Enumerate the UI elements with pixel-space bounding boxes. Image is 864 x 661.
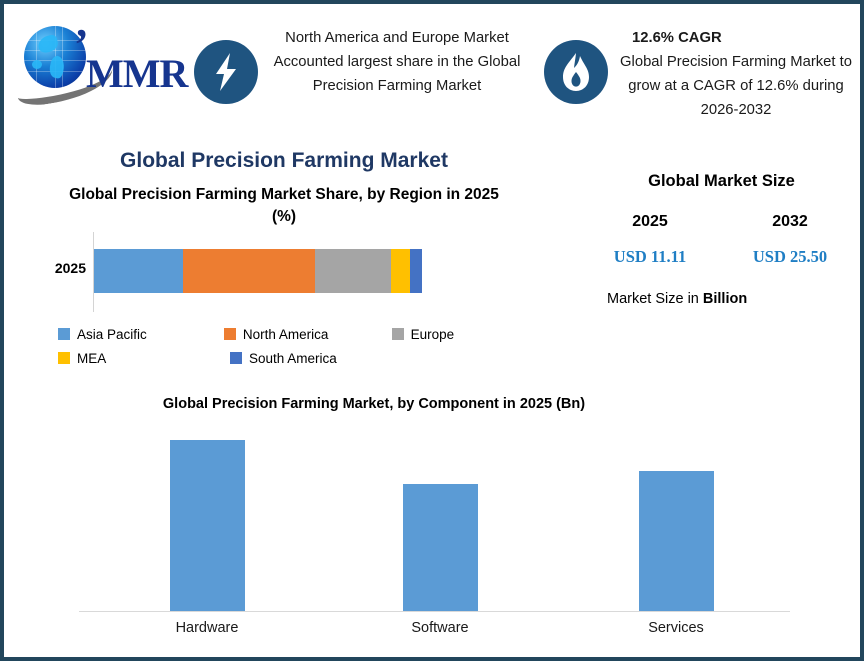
legend-item-europe[interactable]: Europe [392,327,488,342]
company-logo: ’ MMR [16,22,191,102]
market-size-year-end: 2032 [731,213,849,231]
stacked-bar [94,249,422,293]
legend-row-2: MEA South America [58,346,488,370]
stacked-bar-segment-south-america [410,249,422,293]
component-chart: HardwareSoftwareServices [4,424,860,644]
market-size-year-start: 2025 [591,213,709,231]
legend-swatch-icon [230,352,242,364]
legend-label: South America [249,351,337,366]
fact-cagr-headline: 12.6% CAGR [616,26,856,50]
legend-swatch-icon [58,352,70,364]
market-size-footnote: Market Size in Billion [589,291,854,307]
legend-item-south-america[interactable]: South America [230,351,404,366]
legend-label: MEA [77,351,106,366]
fact-cagr-body: Global Precision Farming Market to grow … [620,54,852,118]
header-fact-region: North America and Europe Market Accounte… [194,26,524,126]
legend-label: Europe [411,327,455,342]
legend-item-mea[interactable]: MEA [58,351,230,366]
share-chart: 2025 [29,232,489,312]
component-axis-label-hardware: Hardware [127,620,287,636]
header: ’ MMR North America and Europe Market Ac… [4,4,860,136]
share-chart-category-label: 2025 [29,260,86,276]
header-fact-cagr: 12.6% CAGR Global Precision Farming Mark… [544,26,856,126]
market-size-footnote-prefix: Market Size in [607,291,703,307]
bolt-icon [194,40,258,104]
legend-swatch-icon [58,328,70,340]
stacked-bar-segment-asia-pacific [94,249,183,293]
logo-brand-text: MMR [86,50,187,97]
legend-item-asia-pacific[interactable]: Asia Pacific [58,327,224,342]
market-size-col-2025: 2025 USD 11.11 [591,213,709,267]
component-bar-hardware [170,440,245,611]
share-chart-title: Global Precision Farming Market Share, b… [64,184,504,228]
component-bar-software [403,484,478,611]
stacked-bar-segment-europe [315,249,390,293]
market-size-col-2032: 2032 USD 25.50 [731,213,849,267]
market-size-panel: Global Market Size 2025 USD 11.11 2032 U… [589,172,854,307]
component-chart-baseline [79,611,790,612]
market-size-value-start: USD 11.11 [591,247,709,267]
market-size-columns: 2025 USD 11.11 2032 USD 25.50 [589,213,854,275]
legend-swatch-icon [224,328,236,340]
fact-region-text: North America and Europe Market Accounte… [270,26,524,98]
share-chart-legend: Asia Pacific North America Europe MEA So… [58,322,488,370]
legend-item-north-america[interactable]: North America [224,327,392,342]
fact-cagr-text: 12.6% CAGR Global Precision Farming Mark… [616,26,856,122]
page-title: Global Precision Farming Market [34,149,534,173]
flame-icon [544,40,608,104]
market-size-footnote-unit: Billion [703,291,747,307]
stacked-bar-segment-mea [391,249,410,293]
infographic-root: ’ MMR North America and Europe Market Ac… [0,0,864,661]
legend-label: Asia Pacific [77,327,147,342]
component-chart-title: Global Precision Farming Market, by Comp… [64,396,684,412]
market-size-title: Global Market Size [589,172,854,191]
component-axis-label-software: Software [360,620,520,636]
component-axis-label-services: Services [596,620,756,636]
legend-label: North America [243,327,329,342]
legend-swatch-icon [392,328,404,340]
legend-row-1: Asia Pacific North America Europe [58,322,488,346]
stacked-bar-segment-north-america [183,249,316,293]
market-size-value-end: USD 25.50 [731,247,849,267]
component-bar-services [639,471,714,611]
